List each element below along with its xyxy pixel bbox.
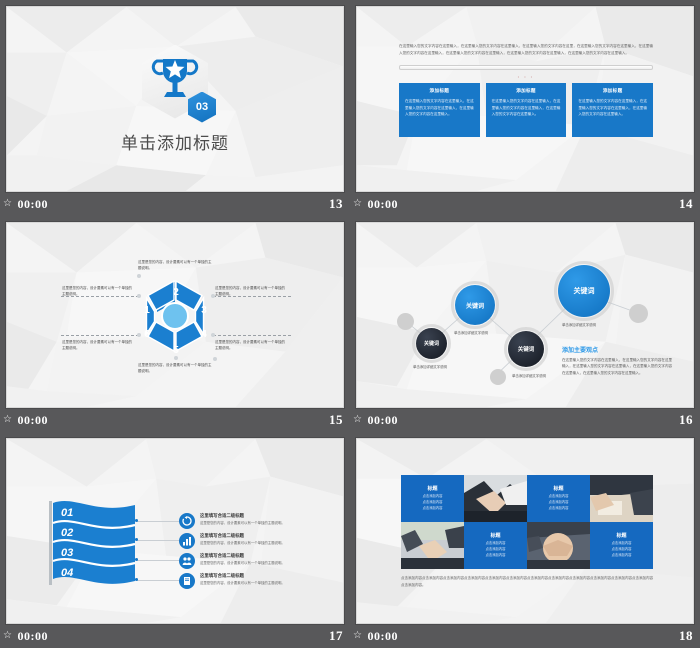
card-3[interactable]: 添加标题 在这里输入您的文字内容在这里输入，在这里输入您的文字内容在这里输入，在… bbox=[572, 83, 653, 137]
segment-6[interactable]: 6 bbox=[140, 327, 154, 341]
node-2-ring bbox=[451, 281, 499, 329]
star-icon: ☆ bbox=[3, 631, 12, 641]
mosaic-tile-1[interactable]: 标题 点击添加内容 点击添加内容 点击添加内容 bbox=[401, 475, 464, 522]
list-item-3-body: 这里是您的内容，设计要素可以有一个单独的主题说明。 bbox=[200, 561, 292, 567]
card-1-body: 在这里输入您的文字内容在这里输入，在这里输入您的文字内容在这里输入，在这里输入您… bbox=[405, 98, 474, 117]
slide-cell-14[interactable]: 在这里输入您的文字内容在这里输入，在这里输入您的文字内容在这里输入，在这里输入您… bbox=[350, 0, 700, 216]
slide-17[interactable]: 01 02 03 04 这里填写合适二级标题 这里是您的内容，设计要素可以有一个… bbox=[6, 438, 344, 624]
connector-left-bottom bbox=[61, 335, 139, 336]
node-2-caption: 单击添加详细文字说明 bbox=[454, 330, 488, 335]
slide-number: 17 bbox=[329, 628, 343, 644]
segment-5[interactable]: 5 bbox=[169, 343, 183, 357]
note-bottom: 这里是您的内容，设计要素可以有一个单独的主题说明。 bbox=[138, 362, 214, 374]
slide-16[interactable]: 关键词 单击添加详细文字说明 关键词 单击添加详细文字说明 关键词 单击添加详细… bbox=[356, 222, 694, 408]
slide-footer-15: ☆ 00:00 15 bbox=[0, 408, 350, 432]
footer-time: 00:00 bbox=[367, 197, 398, 212]
card-2[interactable]: 添加标题 在这里输入您的文字内容在这里输入，在这里输入您的文字内容在这里输入，在… bbox=[486, 83, 567, 137]
business-handshake-photo bbox=[401, 522, 464, 569]
refresh-icon bbox=[179, 513, 195, 529]
node-1-caption: 单击添加详细文字说明 bbox=[413, 364, 447, 369]
star-icon: ☆ bbox=[3, 199, 12, 209]
flag-number-03[interactable]: 03 bbox=[61, 547, 73, 559]
node-2[interactable]: 关键词 bbox=[455, 285, 495, 325]
slide-number: 15 bbox=[329, 412, 343, 428]
slide-15[interactable]: 1 2 3 4 5 6 这里是您的内容，设计要素可以有一个单独的主题说明。 这里… bbox=[6, 222, 344, 408]
note-right-top: 这里是您的内容，设计要素可以有一个单独的主题说明。 bbox=[215, 285, 285, 297]
note-left-top: 这里是您的内容，设计要素可以有一个单独的主题说明。 bbox=[62, 285, 132, 297]
people-icon bbox=[179, 553, 195, 569]
footer-time: 00:00 bbox=[17, 629, 48, 644]
flag-number-02[interactable]: 02 bbox=[61, 527, 73, 539]
slide-cell-17[interactable]: 01 02 03 04 这里填写合适二级标题 这里是您的内容，设计要素可以有一个… bbox=[0, 432, 350, 648]
note-left-bottom: 这里是您的内容，设计要素可以有一个单独的主题说明。 bbox=[62, 339, 132, 351]
segment-2[interactable]: 2 bbox=[169, 285, 183, 299]
card-1[interactable]: 添加标题 在这里输入您的文字内容在这里输入，在这里输入您的文字内容在这里输入，在… bbox=[399, 83, 480, 137]
slide-number: 16 bbox=[679, 412, 693, 428]
mosaic-tile-6-line-3: 点击添加内容 bbox=[486, 553, 506, 559]
list-item-4-title: 这里填写合适二级标题 bbox=[200, 573, 292, 579]
card-1-title: 添加标题 bbox=[405, 88, 474, 94]
divider-dots: • • • bbox=[399, 74, 653, 79]
accent-circle-2 bbox=[490, 369, 506, 385]
card-3-title: 添加标题 bbox=[578, 88, 647, 94]
mosaic-tile-8[interactable]: 标题 点击添加内容 点击添加内容 点击添加内容 bbox=[590, 522, 653, 569]
mosaic-caption: 点击添加内容点击添加内容点击添加内容点击添加内容点击添加内容点击添加内容点击添加… bbox=[401, 575, 653, 588]
node-3-caption: 单击添加详细文字说明 bbox=[512, 373, 546, 378]
list-item-3-title: 这里填写合适二级标题 bbox=[200, 553, 292, 559]
main-point-title: 添加主要观点 bbox=[562, 345, 672, 354]
flag-number-04[interactable]: 04 bbox=[61, 567, 73, 579]
list-item-1-body: 这里是您的内容，设计要素可以有一个单独的主题说明。 bbox=[200, 521, 292, 527]
connector-dot-bottom bbox=[213, 357, 217, 361]
divider-bar bbox=[399, 65, 653, 70]
slide-footer-13: ☆ 00:00 13 bbox=[0, 192, 350, 216]
leader-line-4 bbox=[137, 580, 179, 581]
card-3-body: 在这里输入您的文字内容在这里输入，在这里输入您的文字内容在这里输入，在这里输入您… bbox=[578, 98, 647, 117]
slide-number: 13 bbox=[329, 196, 343, 212]
note-top: 这里是您的内容，设计要素可以有一个单独的主题说明。 bbox=[138, 259, 214, 271]
slide-13[interactable]: 03 单击添加标题 bbox=[6, 6, 344, 192]
main-point-panel: 添加主要观点 在这里输入您的文字内容在这里输入，在这里输入您的文字内容在这里输入… bbox=[562, 345, 672, 376]
list-item-2-body: 这里是您的内容，设计要素可以有一个单独的主题说明。 bbox=[200, 541, 292, 547]
mosaic-tile-3[interactable]: 标题 点击添加内容 点击添加内容 点击添加内容 bbox=[527, 475, 590, 522]
footer-time: 00:00 bbox=[367, 413, 398, 428]
mosaic-tile-8-line-3: 点击添加内容 bbox=[612, 553, 632, 559]
mosaic-tile-6[interactable]: 标题 点击添加内容 点击添加内容 点击添加内容 bbox=[464, 522, 527, 569]
mosaic-tile-3-line-3: 点击添加内容 bbox=[549, 506, 569, 512]
card-row: 添加标题 在这里输入您的文字内容在这里输入，在这里输入您的文字内容在这里输入，在… bbox=[399, 83, 653, 137]
footer-time: 00:00 bbox=[367, 629, 398, 644]
star-icon: ☆ bbox=[353, 415, 362, 425]
footer-time: 00:00 bbox=[17, 413, 48, 428]
list-item-2[interactable]: 这里填写合适二级标题 这里是您的内容，设计要素可以有一个单独的主题说明。 bbox=[179, 533, 292, 549]
leader-dot-4 bbox=[135, 578, 138, 581]
intro-paragraph: 在这里输入您的文字内容在这里输入，在这里输入您的文字内容在这里输入，在这里输入您… bbox=[399, 43, 653, 56]
slide-footer-17: ☆ 00:00 17 bbox=[0, 624, 350, 648]
mosaic-tile-6-title: 标题 bbox=[490, 532, 500, 539]
node-4-ring bbox=[554, 261, 614, 321]
mosaic-tile-3-title: 标题 bbox=[553, 485, 563, 492]
list-item-4[interactable]: 这里填写合适二级标题 这里是您的内容，设计要素可以有一个单独的主题说明。 bbox=[179, 573, 292, 589]
photo-mosaic-grid: 标题 点击添加内容 点击添加内容 点击添加内容 bbox=[401, 475, 653, 569]
trophy-emblem: 03 bbox=[136, 45, 214, 125]
hexagon-wheel-diagram: 1 2 3 4 5 6 这里是您的内容，设计要素可以有一个单独的主题说明。 这里… bbox=[7, 223, 343, 407]
list-item-2-title: 这里填写合适二级标题 bbox=[200, 533, 292, 539]
segment-1[interactable]: 1 bbox=[140, 303, 154, 317]
flag-number-01[interactable]: 01 bbox=[61, 507, 73, 519]
node-4-caption: 单击添加详细文字说明 bbox=[562, 322, 596, 327]
leader-line-1 bbox=[137, 521, 179, 522]
footer-time: 00:00 bbox=[17, 197, 48, 212]
slide-footer-14: ☆ 00:00 14 bbox=[350, 192, 700, 216]
slide-18[interactable]: 标题 点击添加内容 点击添加内容 点击添加内容 bbox=[356, 438, 694, 624]
node-1[interactable]: 关键词 bbox=[416, 328, 447, 359]
card-2-title: 添加标题 bbox=[492, 88, 561, 94]
leader-dot-3 bbox=[135, 558, 138, 561]
slide-number: 14 bbox=[679, 196, 693, 212]
slide-thumbnail-grid: 03 单击添加标题 ☆ 00:00 13 bbox=[0, 0, 700, 648]
chart-icon bbox=[179, 533, 195, 549]
leader-line-2 bbox=[137, 540, 179, 541]
slide-footer-18: ☆ 00:00 18 bbox=[350, 624, 700, 648]
node-1-ring bbox=[412, 324, 451, 363]
team-hands-photo bbox=[527, 522, 590, 569]
node-3[interactable]: 关键词 bbox=[508, 331, 544, 367]
mosaic-tile-1-title: 标题 bbox=[427, 485, 437, 492]
leader-line-3 bbox=[137, 560, 179, 561]
card-2-body: 在这里输入您的文字内容在这里输入，在这里输入您的文字内容在这里输入，在这里输入您… bbox=[492, 98, 561, 117]
star-icon: ☆ bbox=[3, 415, 12, 425]
meeting-table-photo bbox=[590, 475, 653, 522]
slide-cell-15[interactable]: 1 2 3 4 5 6 这里是您的内容，设计要素可以有一个单独的主题说明。 这里… bbox=[0, 216, 350, 432]
accent-circle-1 bbox=[397, 313, 414, 330]
connector-right-bottom bbox=[213, 335, 291, 336]
node-4[interactable]: 关键词 bbox=[558, 265, 610, 317]
main-point-body: 在这里输入您的文字内容在这里输入，在这里输入您的文字内容在这里输入，在这里输入您… bbox=[562, 357, 672, 376]
node-3-ring bbox=[504, 327, 548, 371]
star-icon: ☆ bbox=[353, 199, 362, 209]
list-item-1-title: 这里填写合适二级标题 bbox=[200, 513, 292, 519]
note-right-bottom: 这里是您的内容，设计要素可以有一个单独的主题说明。 bbox=[215, 339, 285, 351]
leader-dot-1 bbox=[135, 519, 138, 522]
slide-number: 18 bbox=[679, 628, 693, 644]
accent-circle-3 bbox=[629, 304, 648, 323]
slide-cell-18[interactable]: 标题 点击添加内容 点击添加内容 点击添加内容 bbox=[350, 432, 700, 648]
document-icon bbox=[179, 573, 195, 589]
slide-cell-16[interactable]: 关键词 单击添加详细文字说明 关键词 单击添加详细文字说明 关键词 单击添加详细… bbox=[350, 216, 700, 432]
handshake-photo bbox=[464, 475, 527, 522]
list-item-1[interactable]: 这里填写合适二级标题 这里是您的内容，设计要素可以有一个单独的主题说明。 bbox=[179, 513, 292, 529]
segment-3[interactable]: 3 bbox=[197, 303, 211, 317]
connector-dot-top bbox=[137, 274, 141, 278]
list-item-4-body: 这里是您的内容，设计要素可以有一个单独的主题说明。 bbox=[200, 581, 292, 587]
leader-dot-2 bbox=[135, 538, 138, 541]
mosaic-tile-1-line-3: 点击添加内容 bbox=[423, 506, 443, 512]
page-title: 单击添加标题 bbox=[121, 129, 229, 154]
segment-4[interactable]: 4 bbox=[197, 327, 211, 341]
mosaic-tile-8-title: 标题 bbox=[616, 532, 626, 539]
list-item-3[interactable]: 这里填写合适二级标题 这里是您的内容，设计要素可以有一个单独的主题说明。 bbox=[179, 553, 292, 569]
slide-cell-13[interactable]: 03 单击添加标题 ☆ 00:00 13 bbox=[0, 0, 350, 216]
slide-footer-16: ☆ 00:00 16 bbox=[350, 408, 700, 432]
star-icon: ☆ bbox=[353, 631, 362, 641]
slide-14[interactable]: 在这里输入您的文字内容在这里输入，在这里输入您的文字内容在这里输入，在这里输入您… bbox=[356, 6, 694, 192]
